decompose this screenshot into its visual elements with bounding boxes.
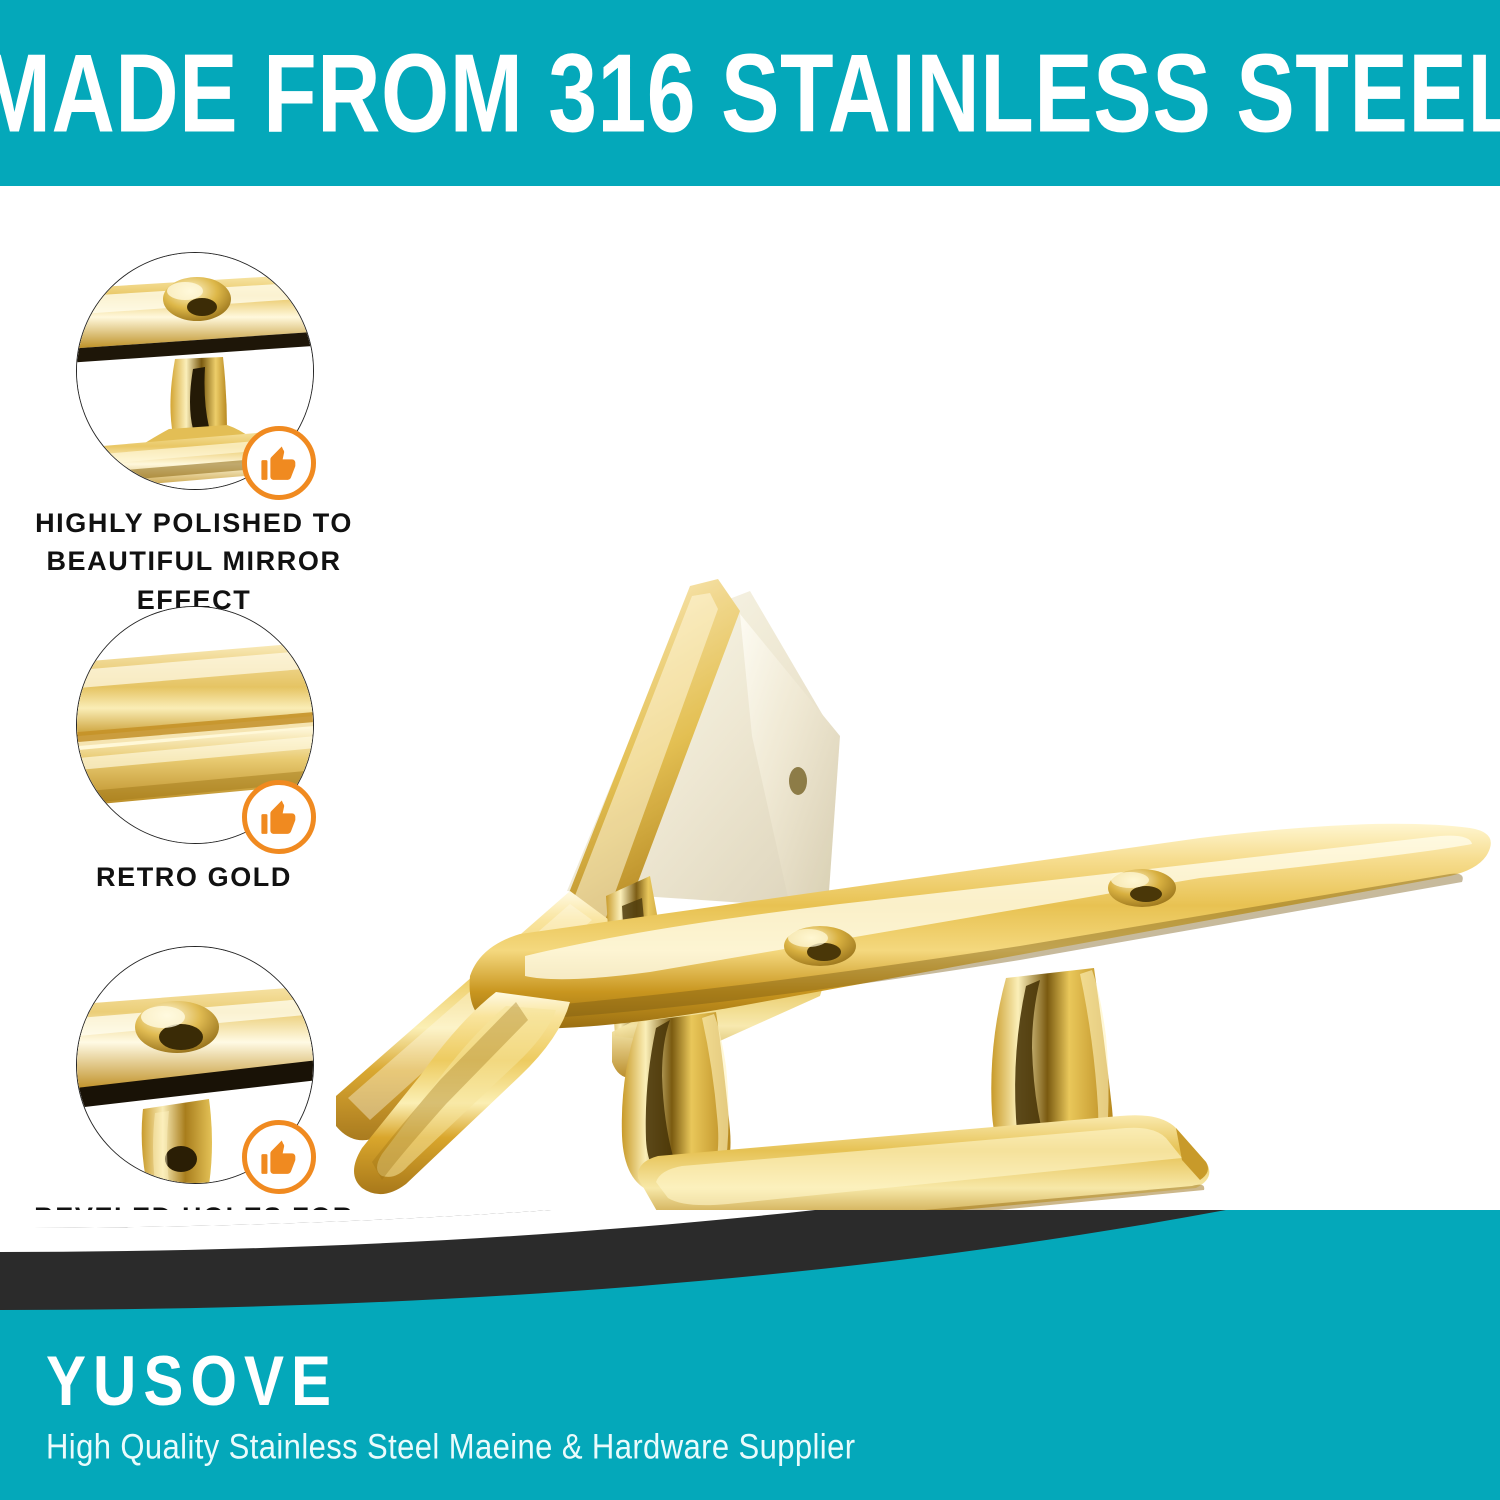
brand-tagline: High Quality Stainless Steel Maeine & Ha… [46, 1429, 855, 1464]
feature-label-1: HIGHLY POLISHED TO BEAUTIFUL MIRROR EFFE… [34, 504, 354, 619]
product-photo [320, 436, 1500, 1216]
feature-label-1-line1: HIGHLY POLISHED TO [34, 504, 354, 542]
header-banner: MADE FROM 316 STAINLESS STEEL [0, 0, 1500, 186]
feature-badge-1 [242, 426, 316, 500]
brand-name: YUSOVE [46, 1346, 855, 1417]
thumbs-up-icon [257, 441, 301, 485]
feature-label-2: RETRO GOLD [34, 858, 354, 896]
feature-label-2-line1: RETRO GOLD [34, 858, 354, 896]
thumbs-up-icon [257, 1135, 301, 1179]
product-infographic: MADE FROM 316 STAINLESS STEEL [0, 0, 1500, 1500]
footer-banner: YUSOVE High Quality Stainless Steel Maei… [0, 1210, 1500, 1500]
footer-text-block: YUSOVE High Quality Stainless Steel Maei… [46, 1357, 855, 1464]
header-title: MADE FROM 316 STAINLESS STEEL [0, 42, 1500, 148]
thumbs-up-icon [257, 795, 301, 839]
product-illustration [320, 436, 1500, 1216]
feature-callout-retro-gold: RETRO GOLD [62, 606, 382, 896]
feature-callout-highly-polished: HIGHLY POLISHED TO BEAUTIFUL MIRROR EFFE… [62, 252, 382, 619]
feature-badge-3 [242, 1120, 316, 1194]
feature-badge-2 [242, 780, 316, 854]
